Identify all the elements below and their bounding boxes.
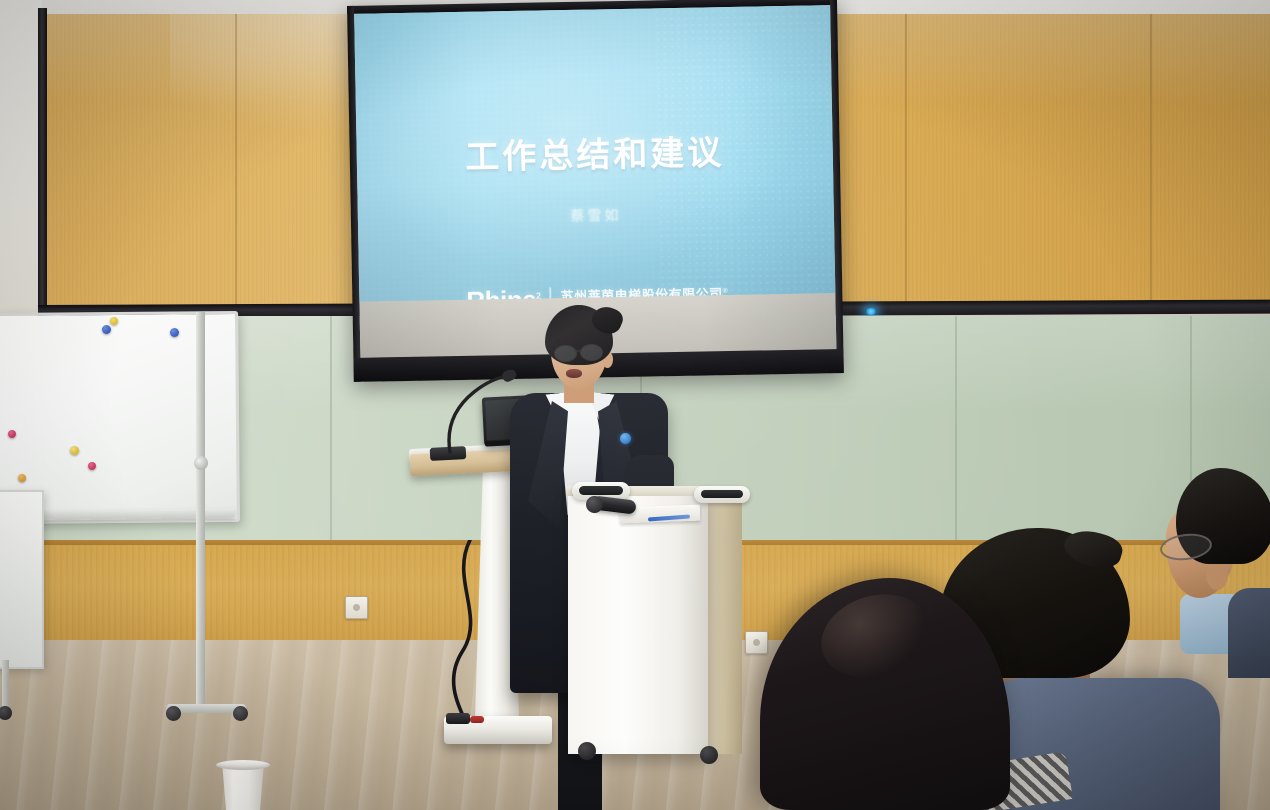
secondary-lectern[interactable] (568, 492, 708, 754)
magnet-crimson-mid[interactable] (88, 462, 96, 470)
wall-socket-right[interactable] (745, 631, 768, 654)
slide-title: 工作总结和建议 (356, 123, 833, 181)
left-wall (0, 0, 42, 330)
glasses-bridge-icon (574, 350, 582, 352)
secondary-whiteboard-leg (2, 660, 9, 710)
glasses-lens-right-icon (580, 344, 603, 361)
secondary-whiteboard[interactable] (0, 490, 44, 669)
magnet-crimson-left[interactable] (8, 430, 16, 438)
cable-connector-red (470, 716, 484, 723)
cable-plug (446, 713, 470, 724)
secondary-lectern-caster (578, 742, 596, 760)
whiteboard-pivot-knob[interactable] (194, 456, 208, 470)
wood-panel-seam (905, 14, 907, 309)
magnet-orange-low[interactable] (18, 474, 26, 482)
magnet-blue-right[interactable] (170, 328, 179, 337)
glass-panel-seam (955, 316, 957, 556)
secondary-lectern-caster (700, 746, 718, 764)
whiteboard-caster (166, 706, 181, 721)
wood-panel-seam (235, 14, 237, 309)
projected-slide: 工作总结和建议 蔡雪如 Rhine2 苏州莱茵电梯股份有限公司® SUZHOU … (354, 5, 835, 302)
secondary-lectern-shelf-left-inset (579, 486, 623, 495)
wall-socket-left[interactable] (345, 596, 368, 619)
lapel-pin-icon (620, 433, 631, 444)
wood-panel-seam (1150, 14, 1152, 309)
glasses-lens-left-icon (554, 345, 577, 362)
whiteboard-stand-post (196, 312, 205, 712)
registered-trademark-icon: ® (723, 288, 729, 295)
led-indicator-icon (865, 308, 877, 315)
audience-right-jacket (1228, 588, 1270, 678)
magnet-blue-top[interactable] (102, 325, 111, 334)
handheld-microphone-head (586, 496, 603, 513)
whiteboard-caster (233, 706, 248, 721)
wall-trim-column (38, 8, 47, 333)
magnet-gold-mid[interactable] (70, 446, 79, 455)
presenter-mouth (566, 369, 582, 378)
conference-room-photo: 工作总结和建议 蔡雪如 Rhine2 苏州莱茵电梯股份有限公司® SUZHOU … (0, 0, 1270, 810)
magnet-yellow-top[interactable] (110, 317, 118, 325)
secondary-lectern-shelf-right-inset (701, 490, 743, 498)
power-cable (440, 540, 500, 725)
paper-cup-rim (216, 760, 270, 770)
glass-panel-seam (330, 316, 332, 556)
